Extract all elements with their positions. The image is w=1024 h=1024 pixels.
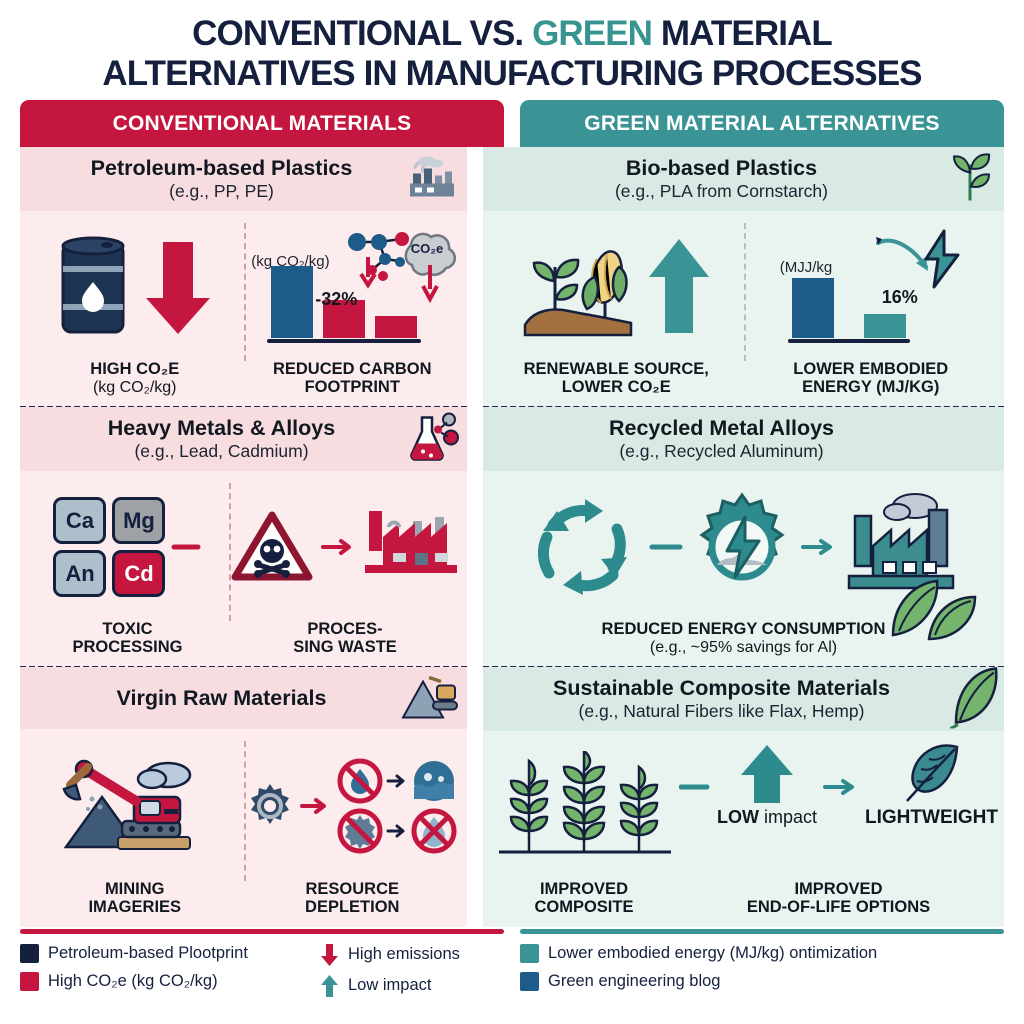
card-title: Petroleum-based Plastics bbox=[34, 156, 409, 180]
column-headers: CONVENTIONAL MATERIALS GREEN MATERIAL AL… bbox=[0, 100, 1024, 147]
caption-line-2: ENERGY (MJ/kg) bbox=[802, 378, 939, 396]
recycle-arrows-icon bbox=[527, 491, 645, 603]
card-header: Bio-based Plastics (e.g., PLA from Corns… bbox=[483, 147, 1004, 211]
panel-art: LOW impact LIGHTWEIGHT bbox=[679, 737, 998, 878]
accent-bar-left bbox=[20, 929, 504, 934]
panel-art bbox=[489, 217, 744, 358]
caption-line-1: RENEWABLE SOURCE, bbox=[524, 360, 709, 378]
element-tile: Ca bbox=[53, 497, 106, 544]
caption-line-1: TOXIC bbox=[102, 620, 152, 638]
page-title: CONVENTIONAL VS. GREEN MATERIAL ALTERNAT… bbox=[0, 0, 1024, 100]
card-body: MINING IMAGERIES bbox=[20, 729, 467, 927]
panel-art bbox=[26, 217, 244, 359]
legend-swatch bbox=[20, 944, 39, 963]
legend-label: Lower embodied energy (MJ/kg) ontimizati… bbox=[548, 944, 877, 963]
gear-bolt-icon bbox=[687, 491, 797, 603]
caption-line-2: END-OF-LIFE OPTIONS bbox=[747, 898, 930, 916]
panel-caption: IMPROVED COMPOSITE bbox=[530, 878, 637, 921]
arrow-right-icon bbox=[823, 777, 859, 797]
legend-label: Low impact bbox=[348, 976, 431, 995]
legend-label: High emissions bbox=[348, 945, 460, 964]
element-symbol: Ca bbox=[66, 508, 94, 534]
panel-lightweight: LOW impact LIGHTWEIGHT bbox=[679, 735, 998, 921]
green-column: Bio-based Plastics (e.g., PLA from Corns… bbox=[483, 147, 1004, 927]
caption-line-1: LOWER EMBODIED bbox=[793, 360, 948, 378]
panel-reduced-footprint: (kg CO₂/kg) bbox=[244, 215, 462, 401]
legend: Petroleum-based Plootprint High CO₂e (kg… bbox=[0, 934, 1024, 1003]
down-arrow-icon bbox=[320, 944, 339, 966]
card-petroleum-plastics: Petroleum-based Plastics (e.g., PP, PE) bbox=[20, 147, 467, 407]
panel-caption: IMPROVED END-OF-LIFE OPTIONS bbox=[743, 878, 934, 921]
connector-dash-icon bbox=[171, 537, 201, 557]
card-recycled-metal-alloys: Recycled Metal Alloys (e.g., Recycled Al… bbox=[483, 407, 1004, 667]
legend-swatch bbox=[20, 972, 39, 991]
legend-swatch bbox=[520, 972, 539, 991]
panel-art: (MJJ/kg bbox=[744, 217, 999, 358]
card-body: REDUCED ENERGY CONSUMPTION (e.g., ~95% s… bbox=[483, 471, 1004, 667]
skull-hazard-icon bbox=[229, 507, 315, 587]
panel-caption: LOWER EMBODIED ENERGY (MJ/kg) bbox=[789, 358, 952, 401]
card-body: Ca Mg An Cd TOXIC PROCESSING bbox=[20, 471, 467, 667]
comparison-grid: Petroleum-based Plastics (e.g., PP, PE) bbox=[0, 147, 1024, 927]
mining-excavator-icon bbox=[60, 751, 210, 861]
legend-item: High CO₂e (kg CO₂/kg) bbox=[20, 972, 320, 991]
legend-swatch bbox=[520, 944, 539, 963]
element-tile: An bbox=[53, 550, 106, 597]
card-subtitle: (e.g., Recycled Aluminum) bbox=[497, 441, 946, 462]
card-header: Heavy Metals & Alloys (e.g., Lead, Cadmi… bbox=[20, 407, 467, 471]
bar-bio-based bbox=[864, 314, 906, 338]
element-symbol: Cd bbox=[124, 561, 153, 587]
connector-dash-icon bbox=[679, 777, 711, 797]
card-body: HIGH CO₂e (kg CO₂/kg) (kg CO₂/kg) bbox=[20, 211, 467, 407]
caption-line-2: (kg CO₂/kg) bbox=[90, 379, 179, 397]
panel-lower-embodied-energy: (MJJ/kg bbox=[744, 215, 999, 401]
caption-line-1: REDUCED CARBON bbox=[273, 360, 432, 378]
caption-line-1: RESOURCE bbox=[305, 880, 399, 898]
card-header: Virgin Raw Materials bbox=[20, 667, 467, 729]
legend-item: Lower embodied energy (MJ/kg) ontimizati… bbox=[520, 944, 1004, 963]
no-water-no-gear-icon bbox=[336, 757, 458, 855]
card-title: Recycled Metal Alloys bbox=[497, 416, 946, 440]
card-header: Recycled Metal Alloys (e.g., Recycled Al… bbox=[483, 407, 1004, 471]
card-bio-based-plastics: Bio-based Plastics (e.g., PLA from Corns… bbox=[483, 147, 1004, 407]
card-subtitle: (e.g., PLA from Cornstarch) bbox=[497, 181, 946, 202]
legend-column-2: High emissions Low impact bbox=[320, 944, 520, 997]
legend-label: High CO₂e (kg CO₂/kg) bbox=[48, 972, 218, 991]
card-title: Sustainable Composite Materials bbox=[497, 676, 946, 700]
no-water-icon bbox=[336, 757, 384, 805]
panel-renewable-source: RENEWABLE SOURCE, LOWER CO₂e bbox=[489, 215, 744, 401]
title-green-word: GREEN bbox=[532, 14, 652, 53]
delta-label: -32% bbox=[315, 289, 357, 310]
element-tiles: Ca Mg An Cd bbox=[53, 497, 165, 597]
caption-line-1: MINING bbox=[105, 880, 165, 898]
factory-icon bbox=[407, 153, 459, 204]
lightweight-label: LIGHTWEIGHT bbox=[865, 807, 998, 829]
small-down-arrow-icon-2 bbox=[421, 265, 439, 303]
panel-caption: PROCES- SING WASTE bbox=[289, 618, 401, 661]
bar-conventional bbox=[792, 278, 834, 338]
panel-art bbox=[229, 477, 461, 618]
leaves-icon bbox=[889, 573, 981, 645]
panel-caption: MINING IMAGERIES bbox=[84, 878, 185, 921]
infographic-page: CONVENTIONAL VS. GREEN MATERIAL ALTERNAT… bbox=[0, 0, 1024, 1024]
title-line1-part1: CONVENTIONAL VS. bbox=[192, 14, 532, 53]
title-line1-part2: MATERIAL bbox=[652, 14, 832, 53]
up-arrow-icon bbox=[645, 235, 713, 339]
panel-art bbox=[244, 735, 462, 878]
legend-column-1: Petroleum-based Plootprint High CO₂e (kg… bbox=[20, 944, 320, 997]
panel-caption: TOXIC PROCESSING bbox=[68, 618, 186, 661]
arrow-right-icon bbox=[801, 537, 837, 557]
card-title: Bio-based Plastics bbox=[497, 156, 946, 180]
bar-lowest bbox=[375, 316, 417, 338]
up-arrow-icon bbox=[320, 975, 339, 997]
plant-sprout-icon bbox=[944, 150, 996, 207]
legend-item: Green engineering blog bbox=[520, 972, 1004, 991]
polluted-water-icon bbox=[410, 757, 458, 805]
plant-and-corn-icon bbox=[519, 233, 639, 341]
no-gear-icon bbox=[336, 807, 384, 855]
caption-line-2: FOOTPRINT bbox=[305, 378, 400, 396]
accent-bar-right bbox=[520, 929, 1004, 934]
card-sustainable-composites: Sustainable Composite Materials (e.g., N… bbox=[483, 667, 1004, 927]
arrow-right-icon bbox=[300, 796, 330, 816]
flask-molecule-icon bbox=[405, 411, 459, 466]
legend-item: Petroleum-based Plootprint bbox=[20, 944, 320, 963]
card-body: RENEWABLE SOURCE, LOWER CO₂e (MJJ/kg bbox=[483, 211, 1004, 407]
card-body: IMPROVED COMPOSITE LOW impact bbox=[483, 731, 1004, 927]
caption-line-2: COMPOSITE bbox=[534, 898, 633, 916]
card-heavy-metals: Heavy Metals & Alloys (e.g., Lead, Cadmi… bbox=[20, 407, 467, 667]
no-droplet-icon bbox=[410, 807, 458, 855]
panel-resource-depletion: RESOURCE DEPLETION bbox=[244, 733, 462, 921]
arrow-right-icon bbox=[321, 537, 355, 557]
panel-art bbox=[489, 475, 998, 619]
bar-conventional bbox=[271, 266, 313, 338]
caption-line-2: PROCESSING bbox=[72, 638, 182, 656]
title-line2: ALTERNATIVES IN MANUFACTURING PROCESSES bbox=[102, 54, 921, 93]
caption-line-1: HIGH CO₂e bbox=[90, 360, 179, 378]
element-tile: Cd bbox=[112, 550, 165, 597]
caption-line-2: SING WASTE bbox=[293, 638, 397, 656]
small-arrow-icon-2 bbox=[386, 822, 408, 840]
small-arrow-icon bbox=[386, 772, 408, 790]
caption-line-2: IMAGERIES bbox=[88, 898, 181, 916]
panel-art bbox=[26, 735, 244, 878]
panel-processing-waste: PROCES- SING WASTE bbox=[229, 475, 461, 661]
low-impact-label: LOW impact bbox=[717, 807, 817, 828]
card-header: Petroleum-based Plastics (e.g., PP, PE) bbox=[20, 147, 467, 211]
panel-high-co2e: HIGH CO₂e (kg CO₂/kg) bbox=[26, 215, 244, 401]
card-title: Heavy Metals & Alloys bbox=[34, 416, 409, 440]
caption-line-1: PROCES- bbox=[307, 620, 382, 638]
panel-caption: HIGH CO₂e (kg CO₂/kg) bbox=[86, 358, 183, 400]
element-tile: Mg bbox=[112, 497, 165, 544]
card-virgin-raw-materials: Virgin Raw Materials bbox=[20, 667, 467, 927]
card-title: Virgin Raw Materials bbox=[34, 686, 409, 710]
column-header-green: GREEN MATERIAL ALTERNATIVES bbox=[520, 100, 1004, 147]
legend-column-3: Lower embodied energy (MJ/kg) ontimizati… bbox=[520, 944, 1004, 997]
up-arrow-icon bbox=[738, 743, 796, 805]
column-header-conventional: CONVENTIONAL MATERIALS bbox=[20, 100, 504, 147]
legend-label: Green engineering blog bbox=[548, 972, 720, 991]
panel-toxic-processing: Ca Mg An Cd TOXIC PROCESSING bbox=[26, 475, 229, 661]
leaf-icon bbox=[946, 664, 1002, 733]
panel-art: Ca Mg An Cd bbox=[26, 477, 229, 618]
panel-caption: REDUCED CARBON FOOTPRINT bbox=[269, 358, 436, 401]
caption-line-1: IMPROVED bbox=[794, 880, 882, 898]
conventional-column: Petroleum-based Plastics (e.g., PP, PE) bbox=[20, 147, 467, 927]
panel-caption: RENEWABLE SOURCE, LOWER CO₂e bbox=[520, 358, 713, 401]
panel-art: (kg CO₂/kg) bbox=[244, 217, 462, 358]
card-header: Sustainable Composite Materials (e.g., N… bbox=[483, 667, 1004, 731]
panel-caption: RESOURCE DEPLETION bbox=[301, 878, 403, 921]
card-subtitle: (e.g., Lead, Cadmium) bbox=[34, 441, 409, 462]
caption-line-2: LOWER CO₂e bbox=[562, 378, 671, 396]
connector-dash-icon bbox=[649, 537, 683, 557]
panel-improved-composite: IMPROVED COMPOSITE bbox=[489, 735, 679, 921]
caption-line-1: REDUCED ENERGY CONSUMPTION bbox=[602, 620, 886, 638]
element-symbol: An bbox=[65, 561, 94, 587]
factory-red-icon bbox=[361, 507, 461, 587]
card-subtitle: (e.g., PP, PE) bbox=[34, 181, 409, 202]
wheat-plants-icon bbox=[489, 751, 679, 863]
card-subtitle: (e.g., Natural Fibers like Flax, Hemp) bbox=[497, 701, 946, 722]
legend-item: Low impact bbox=[320, 975, 520, 997]
gear-icon bbox=[246, 782, 294, 830]
caption-line-1: IMPROVED bbox=[540, 880, 628, 898]
panel-mining: MINING IMAGERIES bbox=[26, 733, 244, 921]
delta-label: 16% bbox=[882, 287, 918, 308]
legend-item: High emissions bbox=[320, 944, 520, 966]
excavator-quarry-icon bbox=[399, 671, 459, 724]
oil-barrel-icon bbox=[55, 234, 135, 342]
legend-label: Petroleum-based Plootprint bbox=[48, 944, 248, 963]
down-arrow-icon bbox=[141, 236, 215, 340]
caption-line-2: DEPLETION bbox=[305, 898, 399, 916]
element-symbol: Mg bbox=[123, 508, 155, 534]
feather-icon bbox=[899, 743, 965, 805]
lightning-bolt-icon bbox=[918, 229, 964, 289]
panel-art bbox=[489, 737, 679, 878]
